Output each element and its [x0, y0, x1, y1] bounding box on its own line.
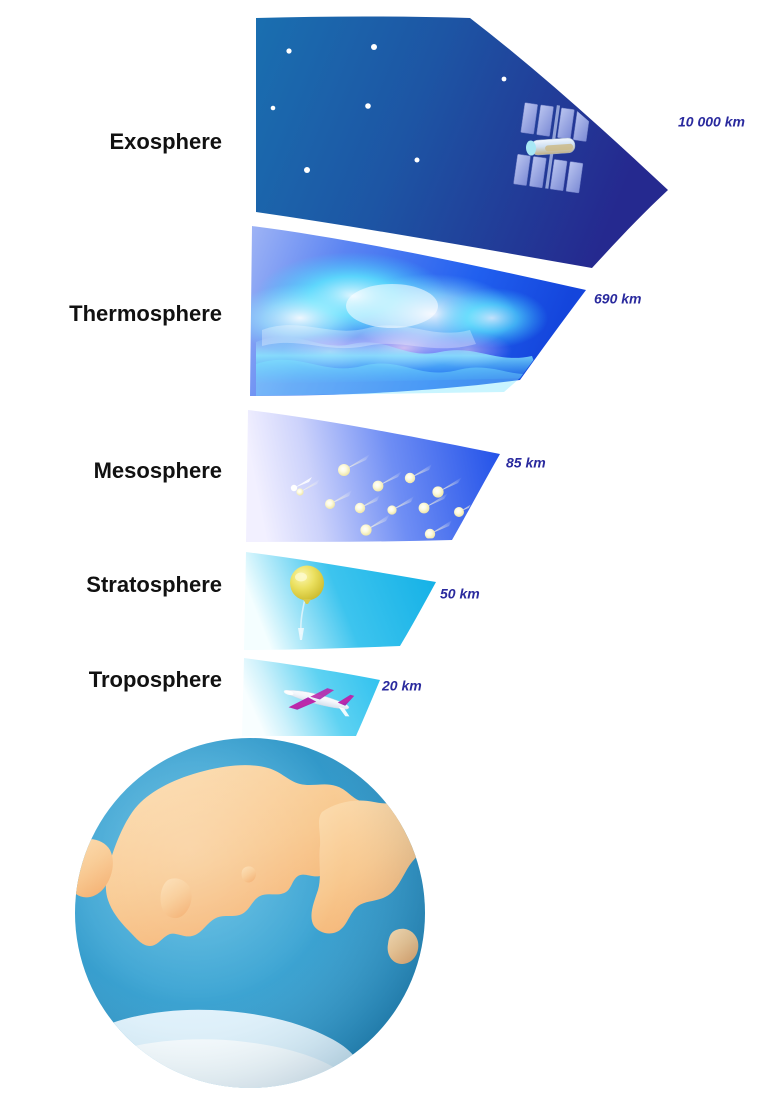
stratosphere-band — [244, 552, 436, 650]
layer-label-stratosphere: Stratosphere — [86, 572, 222, 597]
layer-mesosphere[interactable] — [246, 410, 500, 542]
altitude-label-stratosphere: 50 km — [440, 586, 480, 602]
altitude-label-troposphere: 20 km — [381, 678, 422, 694]
layer-label-troposphere: Troposphere — [89, 667, 222, 692]
altitude-label-mesosphere: 85 km — [506, 455, 546, 471]
atmosphere-layers-diagram: Exosphere Thermosphere Mesosphere Strato… — [0, 0, 760, 1093]
layer-label-thermosphere: Thermosphere — [69, 301, 222, 326]
layer-stratosphere[interactable] — [244, 552, 436, 650]
layer-name-labels: Exosphere Thermosphere Mesosphere Strato… — [69, 129, 222, 692]
layer-exosphere[interactable] — [256, 17, 668, 269]
mesosphere-band — [246, 410, 500, 542]
altitude-label-thermosphere: 690 km — [594, 291, 641, 307]
layer-label-exosphere: Exosphere — [110, 129, 223, 154]
layer-troposphere[interactable] — [242, 658, 380, 736]
altitude-label-exosphere: 10 000 km — [678, 114, 745, 130]
exosphere-band — [256, 17, 668, 269]
earth-globe[interactable] — [69, 738, 435, 1093]
layer-label-mesosphere: Mesosphere — [94, 458, 222, 483]
